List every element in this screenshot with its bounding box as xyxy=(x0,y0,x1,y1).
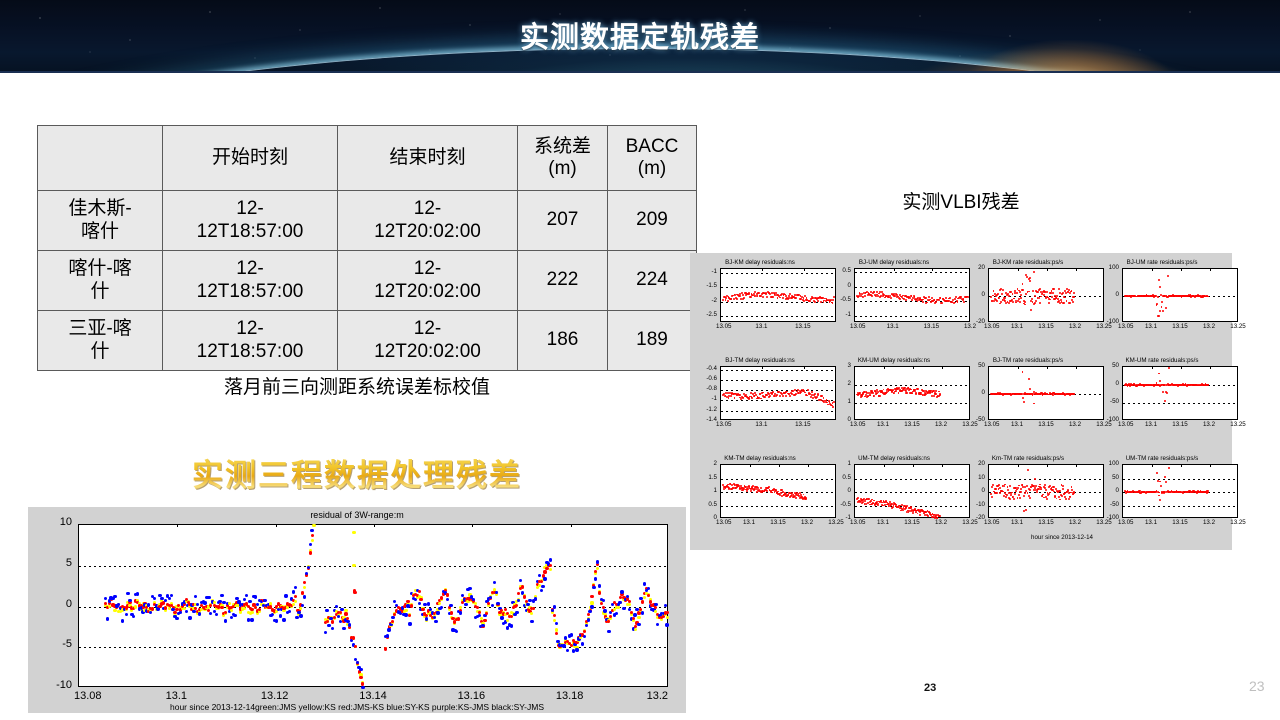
data-point xyxy=(1158,279,1160,281)
data-point xyxy=(991,496,993,498)
table-row: 三亚-喀 什 12- 12T18:57:00 12- 12T20:02:00 1… xyxy=(38,311,697,371)
gridline-vertical xyxy=(942,465,943,517)
gridline-horizontal xyxy=(855,492,969,493)
data-point xyxy=(434,620,437,623)
vlbi-x-tick: 13.15 xyxy=(899,421,925,428)
data-point xyxy=(294,600,297,603)
data-point xyxy=(248,600,251,603)
data-point xyxy=(1029,497,1031,499)
data-point xyxy=(617,606,620,609)
gridline-horizontal xyxy=(855,287,969,288)
vlbi-subplot-title: BJ-UM delay residuals:ns xyxy=(824,259,964,266)
data-point xyxy=(549,558,552,561)
data-point xyxy=(1156,472,1158,474)
data-point xyxy=(1008,295,1010,297)
data-point xyxy=(758,292,760,294)
data-point xyxy=(725,487,727,489)
data-point xyxy=(1009,498,1011,500)
data-point xyxy=(170,594,173,597)
data-point xyxy=(1158,315,1160,317)
data-point xyxy=(1067,489,1069,491)
vlbi-subplot-title: BJ-KM delay residuals:ns xyxy=(690,259,830,266)
data-point xyxy=(769,395,771,397)
data-point xyxy=(427,602,430,605)
data-point xyxy=(806,395,808,397)
data-point xyxy=(344,612,347,615)
data-point xyxy=(149,611,152,614)
data-point xyxy=(1073,292,1075,294)
data-point xyxy=(728,397,730,399)
data-point xyxy=(873,395,875,397)
data-point xyxy=(1162,391,1164,393)
data-point xyxy=(228,602,231,605)
gridline-vertical xyxy=(932,269,933,321)
data-point xyxy=(541,585,544,588)
data-point xyxy=(566,649,569,652)
vlbi-y-tick: -2 xyxy=(690,297,717,304)
data-point xyxy=(743,297,745,299)
data-point xyxy=(408,622,411,625)
data-point xyxy=(890,297,892,299)
vlbi-y-tick: 0 xyxy=(1092,291,1119,298)
data-point xyxy=(814,301,816,303)
data-point xyxy=(1046,498,1048,500)
data-point xyxy=(1159,499,1161,501)
data-point xyxy=(311,539,314,542)
data-point xyxy=(1029,280,1031,282)
data-point xyxy=(768,486,770,488)
data-point xyxy=(1024,492,1026,494)
vlbi-x-tick: 13.1 xyxy=(748,323,774,330)
vlbi-y-tick: 0 xyxy=(824,416,851,423)
vlbi-x-tick: 13.15 xyxy=(1033,519,1059,526)
data-point xyxy=(485,612,488,615)
data-point xyxy=(654,606,657,609)
data-point xyxy=(310,529,313,532)
data-point xyxy=(779,297,781,299)
data-point xyxy=(905,299,907,301)
data-point xyxy=(1033,403,1035,405)
data-point xyxy=(106,617,109,620)
data-point xyxy=(185,610,188,613)
data-point xyxy=(303,581,306,584)
data-point xyxy=(816,396,818,398)
vlbi-y-tick: -0.5 xyxy=(824,296,851,303)
vlbi-subplot: BJ-UM rate residuals:ps/s1000-10013.0513… xyxy=(1092,259,1232,349)
data-point xyxy=(607,630,610,633)
data-point xyxy=(125,613,128,616)
data-point xyxy=(1059,490,1061,492)
vlbi-subplot-plot-area xyxy=(854,464,970,518)
data-point xyxy=(1006,494,1008,496)
data-point xyxy=(455,630,458,633)
data-point xyxy=(192,610,195,613)
data-point xyxy=(393,600,396,603)
data-point xyxy=(938,299,940,301)
data-point xyxy=(440,606,443,609)
vlbi-x-tick: 13.1 xyxy=(1004,421,1030,428)
data-point xyxy=(1158,492,1160,494)
data-point xyxy=(1032,290,1034,292)
vlbi-subplot-plot-area xyxy=(720,366,836,420)
vlbi-subplot-plot-area xyxy=(988,366,1104,420)
data-point xyxy=(1028,291,1030,293)
data-point xyxy=(998,484,1000,486)
data-point xyxy=(359,668,362,671)
data-point xyxy=(1053,288,1055,290)
data-point xyxy=(521,585,524,588)
data-point xyxy=(995,488,997,490)
slide-number: 23 xyxy=(1249,678,1265,694)
data-point xyxy=(1044,484,1046,486)
gridline-horizontal xyxy=(1123,403,1237,404)
gridline-vertical xyxy=(779,465,780,517)
cell-start-line1: 12- xyxy=(165,258,335,280)
data-point xyxy=(553,605,556,608)
three-way-range-residual-chart: residual of 3W-range:m hour since 2013-1… xyxy=(28,507,686,713)
data-point xyxy=(1048,302,1050,304)
data-point xyxy=(1035,300,1037,302)
cell-bacc: 209 xyxy=(608,191,697,251)
vlbi-subplot-plot-area xyxy=(720,464,836,518)
y-axis-tick: 0 xyxy=(66,598,72,610)
vlbi-x-tick: 13.15 xyxy=(918,323,944,330)
data-point xyxy=(643,596,646,599)
vlbi-x-tick: 13.1 xyxy=(1004,323,1030,330)
gridline-horizontal xyxy=(721,287,835,288)
data-point xyxy=(342,627,345,630)
gridline-vertical xyxy=(1076,465,1077,517)
data-point xyxy=(1039,288,1041,290)
data-point xyxy=(999,492,1001,494)
data-point xyxy=(585,624,588,627)
cell-start-line2: 12T18:57:00 xyxy=(165,221,335,243)
vlbi-x-tick: 13.15 xyxy=(790,323,816,330)
vlbi-subplot-plot-area xyxy=(988,268,1104,322)
data-point xyxy=(284,594,287,597)
data-point xyxy=(766,296,768,298)
vlbi-x-tick: 13.15 xyxy=(790,421,816,428)
data-point xyxy=(230,609,233,612)
header-cell-start-time: 开始时刻 xyxy=(163,126,338,191)
data-point xyxy=(1002,289,1004,291)
cell-end-line2: 12T20:02:00 xyxy=(340,221,515,243)
cell-bacc: 189 xyxy=(608,311,697,371)
data-point xyxy=(207,596,210,599)
data-point xyxy=(864,295,866,297)
data-point xyxy=(939,515,941,517)
data-point xyxy=(134,605,137,608)
vlbi-x-tick: 13.15 xyxy=(1167,323,1193,330)
vlbi-y-tick: -50 xyxy=(1092,501,1119,508)
data-point xyxy=(386,634,389,637)
vlbi-subplot: BJ-UM delay residuals:ns0.50-0.5-113.051… xyxy=(824,259,964,349)
vlbi-x-tick: 13.1 xyxy=(1138,421,1164,428)
data-point xyxy=(1019,291,1021,293)
data-point xyxy=(864,500,866,502)
vlbi-y-tick: 1.5 xyxy=(690,474,717,481)
data-point xyxy=(1038,297,1040,299)
data-point xyxy=(299,614,302,617)
gridline-vertical xyxy=(1210,465,1211,517)
data-point xyxy=(153,597,156,600)
cell-start-line2: 12T18:57:00 xyxy=(165,341,335,363)
data-point xyxy=(933,395,935,397)
table-row: 佳木斯- 喀什 12- 12T18:57:00 12- 12T20:02:00 … xyxy=(38,191,697,251)
gridline-horizontal xyxy=(855,272,969,273)
data-point xyxy=(1161,301,1163,303)
vlbi-y-tick: -1 xyxy=(690,395,717,402)
table-header-row: 开始时刻 结束时刻 系统差 (m) BACC (m) xyxy=(38,126,697,191)
vlbi-x-tick: 13.25 xyxy=(1225,323,1251,330)
data-point xyxy=(151,607,154,610)
data-point xyxy=(1023,401,1025,403)
vlbi-x-tick: 13.15 xyxy=(899,519,925,526)
data-point xyxy=(1165,307,1167,309)
data-point xyxy=(795,297,797,299)
header-cell-blank xyxy=(38,126,163,191)
data-point xyxy=(311,534,314,537)
gridline-horizontal xyxy=(721,370,835,371)
data-point xyxy=(1029,388,1031,390)
vlbi-x-tick: 13.15 xyxy=(765,519,791,526)
x-axis-tick: 13.18 xyxy=(542,690,598,702)
data-point xyxy=(352,531,355,534)
data-point xyxy=(1029,277,1031,279)
vlbi-y-tick: -2.5 xyxy=(690,311,717,318)
data-point xyxy=(590,601,593,604)
data-point xyxy=(1159,310,1161,312)
gridline-vertical xyxy=(1152,367,1153,419)
data-point xyxy=(104,597,107,600)
data-point xyxy=(459,611,462,614)
vlbi-y-tick: -1.5 xyxy=(690,282,717,289)
data-point xyxy=(1027,469,1029,471)
data-point xyxy=(1022,371,1024,373)
data-point xyxy=(1159,481,1161,483)
data-point xyxy=(292,603,295,606)
data-point xyxy=(666,611,669,614)
data-point xyxy=(562,644,565,647)
vlbi-y-tick: -1.4 xyxy=(690,416,717,423)
gridline-vertical xyxy=(1018,269,1019,321)
data-point xyxy=(553,614,556,617)
data-point xyxy=(637,616,640,619)
cell-system-bias: 186 xyxy=(518,311,608,371)
data-point xyxy=(643,582,646,585)
vlbi-subplot: UM-TM rate residuals:ps/s100500-50-10013… xyxy=(1092,455,1232,545)
data-point xyxy=(998,297,1000,299)
gridline-vertical xyxy=(884,465,885,517)
vlbi-x-tick: 13.2 xyxy=(1062,323,1088,330)
data-point xyxy=(782,395,784,397)
cell-end-time: 12- 12T20:02:00 xyxy=(338,251,518,311)
gridline-horizontal xyxy=(721,479,835,480)
vlbi-subplot-plot-area xyxy=(1122,464,1238,518)
data-point xyxy=(555,632,558,635)
vlbi-y-tick: 100 xyxy=(1092,264,1119,271)
vlbi-x-tick: 13.2 xyxy=(928,421,954,428)
data-point xyxy=(1069,292,1071,294)
data-point xyxy=(337,615,340,618)
data-point xyxy=(588,610,591,613)
data-point xyxy=(419,598,422,601)
data-point xyxy=(1033,271,1035,273)
data-point xyxy=(893,392,895,394)
data-point xyxy=(1045,489,1047,491)
data-point xyxy=(504,608,507,611)
data-point xyxy=(1023,495,1025,497)
gridline-horizontal xyxy=(721,506,835,507)
data-point xyxy=(303,586,306,589)
vlbi-y-tick: -50 xyxy=(958,416,985,423)
gridline-vertical xyxy=(571,525,572,686)
data-point xyxy=(288,610,291,613)
cell-system-bias: 222 xyxy=(518,251,608,311)
banner-divider xyxy=(0,71,1280,73)
data-point xyxy=(331,627,334,630)
vlbi-y-tick: -10 xyxy=(958,501,985,508)
data-point xyxy=(1025,293,1027,295)
vlbi-y-tick: 0 xyxy=(1092,487,1119,494)
data-point xyxy=(641,600,644,603)
data-point xyxy=(779,395,781,397)
data-point xyxy=(1035,485,1037,487)
vlbi-subplot-plot-area xyxy=(854,366,970,420)
data-point xyxy=(540,589,543,592)
vlbi-subplot: BJ-TM rate residuals:ps/s500-5013.0513.1… xyxy=(958,357,1098,447)
data-point xyxy=(1020,488,1022,490)
data-point xyxy=(418,602,421,605)
data-point xyxy=(1005,496,1007,498)
x-axis-tick: 13.08 xyxy=(74,690,134,702)
data-point xyxy=(220,606,223,609)
data-point xyxy=(782,297,784,299)
cell-start-line1: 12- xyxy=(165,318,335,340)
cell-start-line1: 12- xyxy=(165,198,335,220)
data-point xyxy=(1019,301,1021,303)
vlbi-y-tick: 0 xyxy=(958,389,985,396)
data-point xyxy=(408,614,411,617)
data-point xyxy=(1043,497,1045,499)
data-point xyxy=(279,614,282,617)
vlbi-subplot: KM-UM delay residuals:ns321013.0513.113.… xyxy=(824,357,964,447)
y-axis-tick: 10 xyxy=(60,516,72,528)
data-point xyxy=(583,635,586,638)
data-point xyxy=(730,395,732,397)
gridline-horizontal xyxy=(79,566,667,567)
vlbi-x-tick: 13.2 xyxy=(1196,421,1222,428)
data-point xyxy=(1168,467,1170,469)
data-point xyxy=(1168,367,1170,369)
vlbi-y-tick: 1 xyxy=(824,398,851,405)
data-point xyxy=(990,296,992,298)
vlbi-x-tick: 13.2 xyxy=(794,519,820,526)
data-point xyxy=(515,611,518,614)
data-point xyxy=(862,393,864,395)
data-point xyxy=(352,636,355,639)
vlbi-y-tick: 0 xyxy=(958,291,985,298)
vlbi-y-tick: 0 xyxy=(824,487,851,494)
gridline-vertical xyxy=(1076,367,1077,419)
data-point xyxy=(215,613,218,616)
data-point xyxy=(596,560,599,563)
data-point xyxy=(666,616,669,619)
vlbi-y-tick: -100 xyxy=(1092,514,1119,521)
cell-link-line2: 喀什 xyxy=(40,221,160,243)
data-point xyxy=(481,624,484,627)
data-point xyxy=(549,568,552,571)
vlbi-y-tick: -100 xyxy=(1092,318,1119,325)
data-point xyxy=(656,623,659,626)
data-point xyxy=(1029,489,1031,491)
data-point xyxy=(179,611,182,614)
vlbi-x-tick: 13.05 xyxy=(850,323,876,330)
data-point xyxy=(590,605,593,608)
vlbi-y-tick: -100 xyxy=(1092,416,1119,423)
data-point xyxy=(587,618,590,621)
vlbi-x-tick: 13.2 xyxy=(928,519,954,526)
data-point xyxy=(925,297,927,299)
cell-link: 佳木斯- 喀什 xyxy=(38,191,163,251)
gridline-horizontal xyxy=(721,302,835,303)
data-point xyxy=(871,295,873,297)
data-point xyxy=(1008,302,1010,304)
vlbi-y-tick: 2 xyxy=(690,460,717,467)
data-point xyxy=(510,624,513,627)
data-point xyxy=(620,590,623,593)
data-point xyxy=(164,599,167,602)
gridline-horizontal xyxy=(989,506,1103,507)
gridline-vertical xyxy=(913,367,914,419)
data-point xyxy=(1000,301,1002,303)
vlbi-x-tick: 13.1 xyxy=(736,519,762,526)
vlbi-y-tick: 0 xyxy=(824,282,851,289)
header-cell-system-bias: 系统差 (m) xyxy=(518,126,608,191)
data-point xyxy=(1158,495,1160,497)
data-point xyxy=(1156,303,1158,305)
vlbi-x-tick: 13.1 xyxy=(1138,519,1164,526)
data-point xyxy=(602,599,605,602)
gridline-horizontal xyxy=(1123,506,1237,507)
data-point xyxy=(440,596,443,599)
data-point xyxy=(121,619,124,622)
gridline-horizontal xyxy=(855,479,969,480)
data-point xyxy=(126,592,129,595)
data-point xyxy=(356,661,359,664)
data-point xyxy=(1031,298,1033,300)
x-axis-tick: 13.12 xyxy=(247,690,303,702)
data-point xyxy=(433,616,436,619)
data-point xyxy=(949,297,951,299)
data-point xyxy=(990,493,992,495)
vlbi-y-tick: 3 xyxy=(824,362,851,369)
data-point xyxy=(523,595,526,598)
vlbi-y-tick: 100 xyxy=(1092,460,1119,467)
data-point xyxy=(555,622,558,625)
data-point xyxy=(873,291,875,293)
data-point xyxy=(915,393,917,395)
data-point xyxy=(1017,487,1019,489)
data-point xyxy=(996,300,998,302)
header-bacc-line2: (m) xyxy=(610,158,694,180)
data-point xyxy=(628,603,631,606)
vlbi-y-tick: 0.5 xyxy=(824,474,851,481)
vlbi-y-tick: 1 xyxy=(824,460,851,467)
gridline-vertical xyxy=(1047,465,1048,517)
data-point xyxy=(1058,496,1060,498)
data-point xyxy=(175,617,178,620)
